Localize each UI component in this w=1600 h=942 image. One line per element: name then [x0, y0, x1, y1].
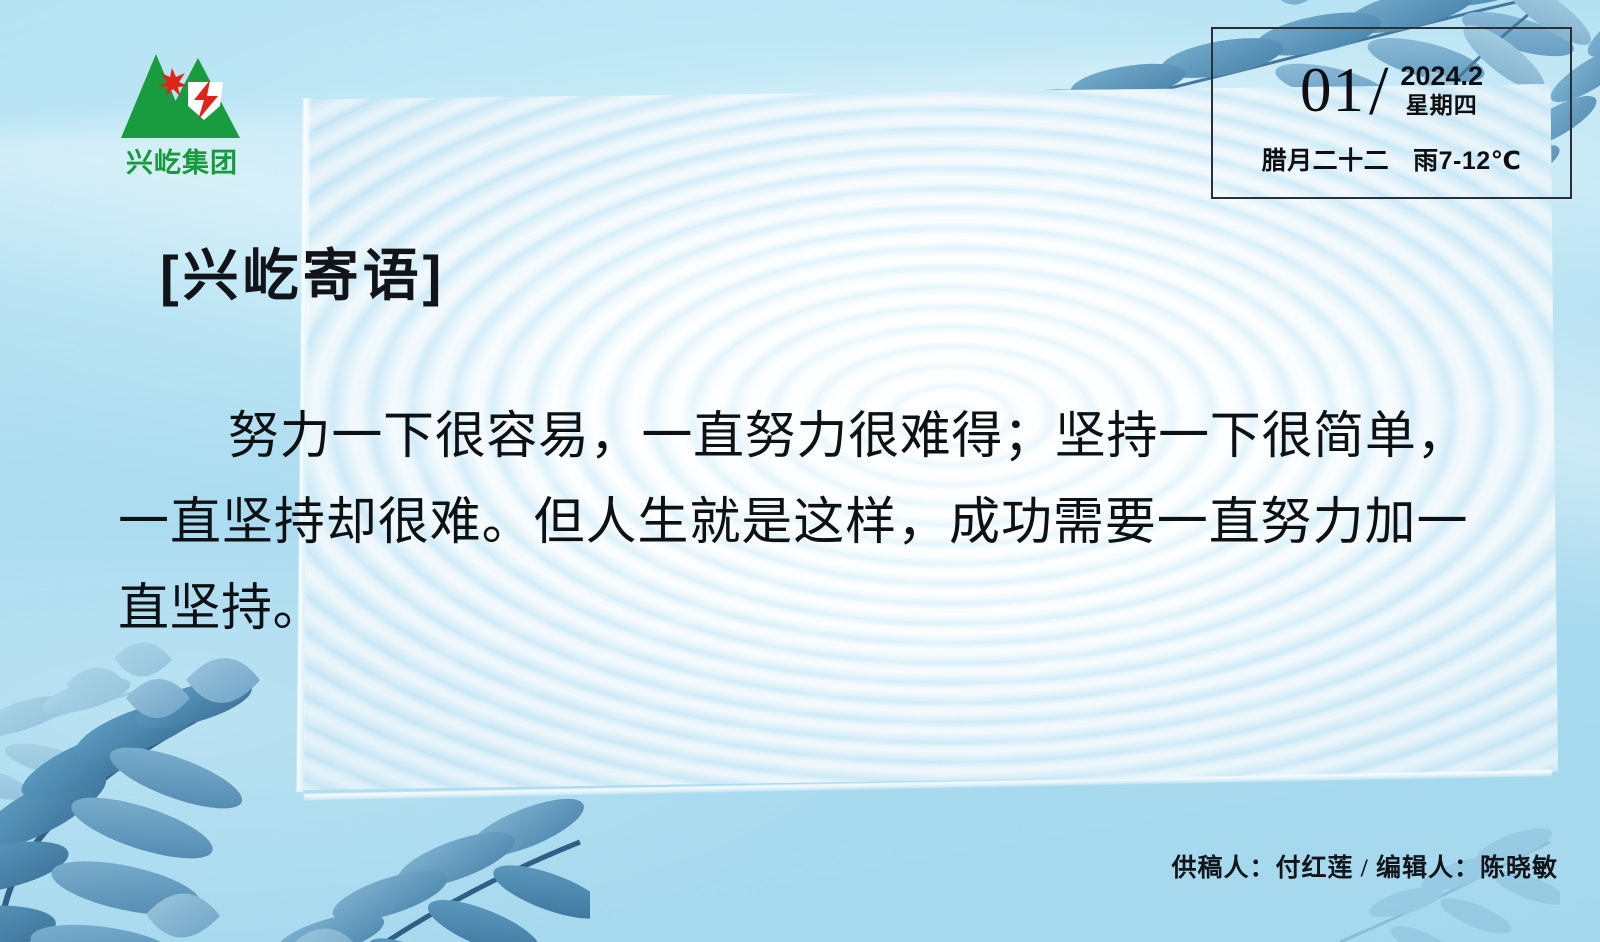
date-separator: / [1369, 57, 1388, 127]
page-title: [兴屹寄语] [160, 248, 445, 304]
date-primary-row: 01 / 2024.2 星期四 [1213, 55, 1570, 125]
date-year-month: 2024.2 [1400, 61, 1483, 93]
body-paragraph: 努力一下很容易，一直努力很难得；坚持一下很简单，一直坚持却很难。但人生就是这样，… [118, 394, 1468, 652]
date-detail-row: 腊月二十二 雨7-12℃ [1213, 141, 1570, 177]
credits-line: 供稿人：付红莲 / 编辑人：陈晓敏 [1172, 848, 1558, 884]
logo-company-name: 兴屹集团 [118, 150, 246, 177]
date-box: 01 / 2024.2 星期四 腊月二十二 雨7-12℃ [1211, 27, 1572, 199]
date-secondary-block: 2024.2 星期四 [1400, 61, 1483, 120]
date-lunar: 腊月二十二 [1262, 141, 1390, 177]
date-day: 01 [1300, 59, 1365, 122]
poster-canvas: 兴屹集团 01 / 2024.2 星期四 腊月二十二 雨7-12℃ [兴屹寄语]… [0, 0, 1600, 942]
company-logo[interactable]: 兴屹集团 [118, 44, 246, 182]
date-weekday: 星期四 [1406, 92, 1478, 119]
mountain-star-lightning-icon [118, 44, 246, 148]
weather-info: 雨7-12℃ [1413, 141, 1521, 177]
